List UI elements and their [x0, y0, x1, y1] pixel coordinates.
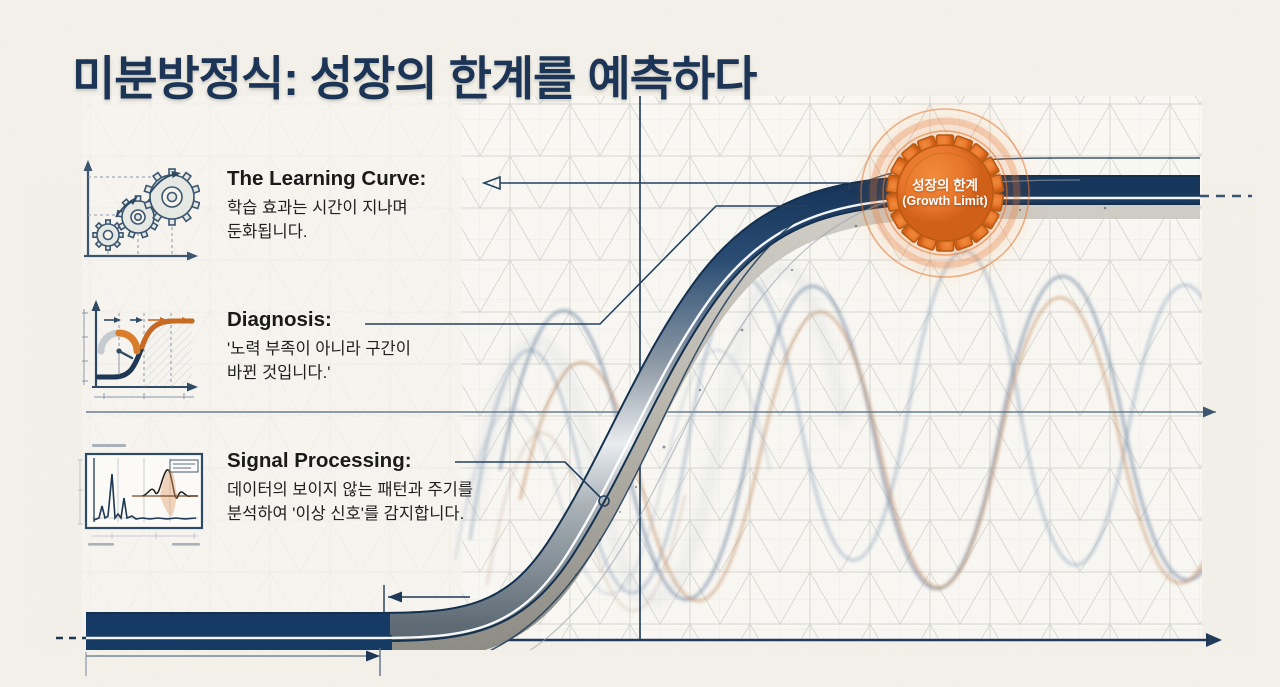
s-curve-gauge-chart-icon [74, 297, 200, 414]
infographic-canvas: 성장의 한계 (Growth Limit) 미분방정식: 성장의 한계를 예측하… [0, 0, 1280, 687]
gear-icon [886, 135, 1003, 251]
signal-spectrum-chart-icon [72, 440, 212, 557]
annotation-heading: Diagnosis: [227, 309, 411, 332]
growing-gears-chart-icon [72, 155, 200, 275]
annotation-heading: The Learning Curve: [227, 168, 426, 191]
annotation-body: 학습 효과는 시간이 지나며 둔화됩니다. [227, 196, 426, 246]
growth-limit-gear-badge[interactable] [853, 101, 1037, 285]
annotation-heading: Signal Processing: [227, 450, 473, 473]
annotation-body: 데이터의 보이지 않는 패턴과 주기를 분석하여 '이상 신호'를 감지합니다. [227, 478, 473, 528]
annotation-body: '노력 부족이 아니라 구간이 바뀐 것입니다.' [227, 337, 411, 387]
page-title: 미분방정식: 성장의 한계를 예측하다 [72, 40, 756, 109]
annotation-diagnosis: Diagnosis: '노력 부족이 아니라 구간이 바뀐 것입니다.' [227, 309, 411, 386]
annotation-learning-curve: The Learning Curve: 학습 효과는 시간이 지나며 둔화됩니다… [227, 168, 426, 245]
annotation-signal-processing: Signal Processing: 데이터의 보이지 않는 패턴과 주기를 분… [227, 450, 473, 527]
